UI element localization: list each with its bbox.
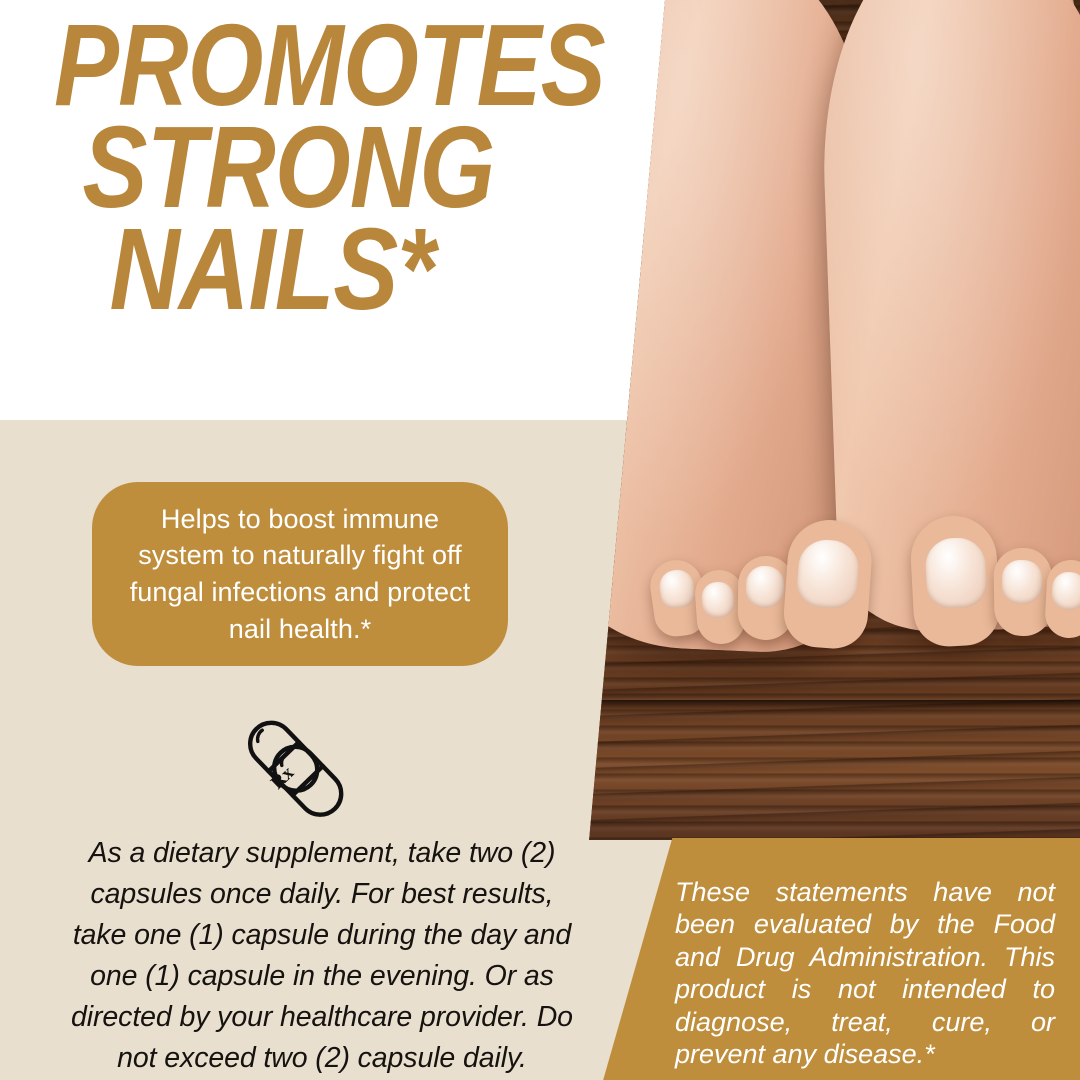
capsules-rx-icon: Rx: [243, 716, 347, 820]
headline-line-2: STRONG: [83, 116, 558, 218]
toenail: [1051, 571, 1080, 611]
big-toenail-right: [924, 536, 988, 609]
headline-line-3: NAILS*: [109, 218, 558, 320]
plank-seam: [560, 700, 1080, 710]
benefit-card: Helps to boost immune system to naturall…: [92, 482, 508, 666]
toenail: [701, 581, 735, 619]
toenail: [746, 566, 785, 609]
headline-line-1: PROMOTES: [54, 14, 558, 116]
directions-text: As a dietary supplement, take two (2) ca…: [62, 833, 582, 1079]
big-toenail-left: [796, 538, 861, 610]
product-infographic-poster: PROMOTES STRONG NAILS* Helps to bo: [0, 0, 1080, 1080]
fda-disclaimer-text: These statements have not been evaluated…: [675, 876, 1055, 1070]
toenail: [1002, 560, 1043, 605]
benefit-card-text: Helps to boost immune system to naturall…: [116, 501, 484, 648]
page-title: PROMOTES STRONG NAILS*: [54, 14, 558, 320]
